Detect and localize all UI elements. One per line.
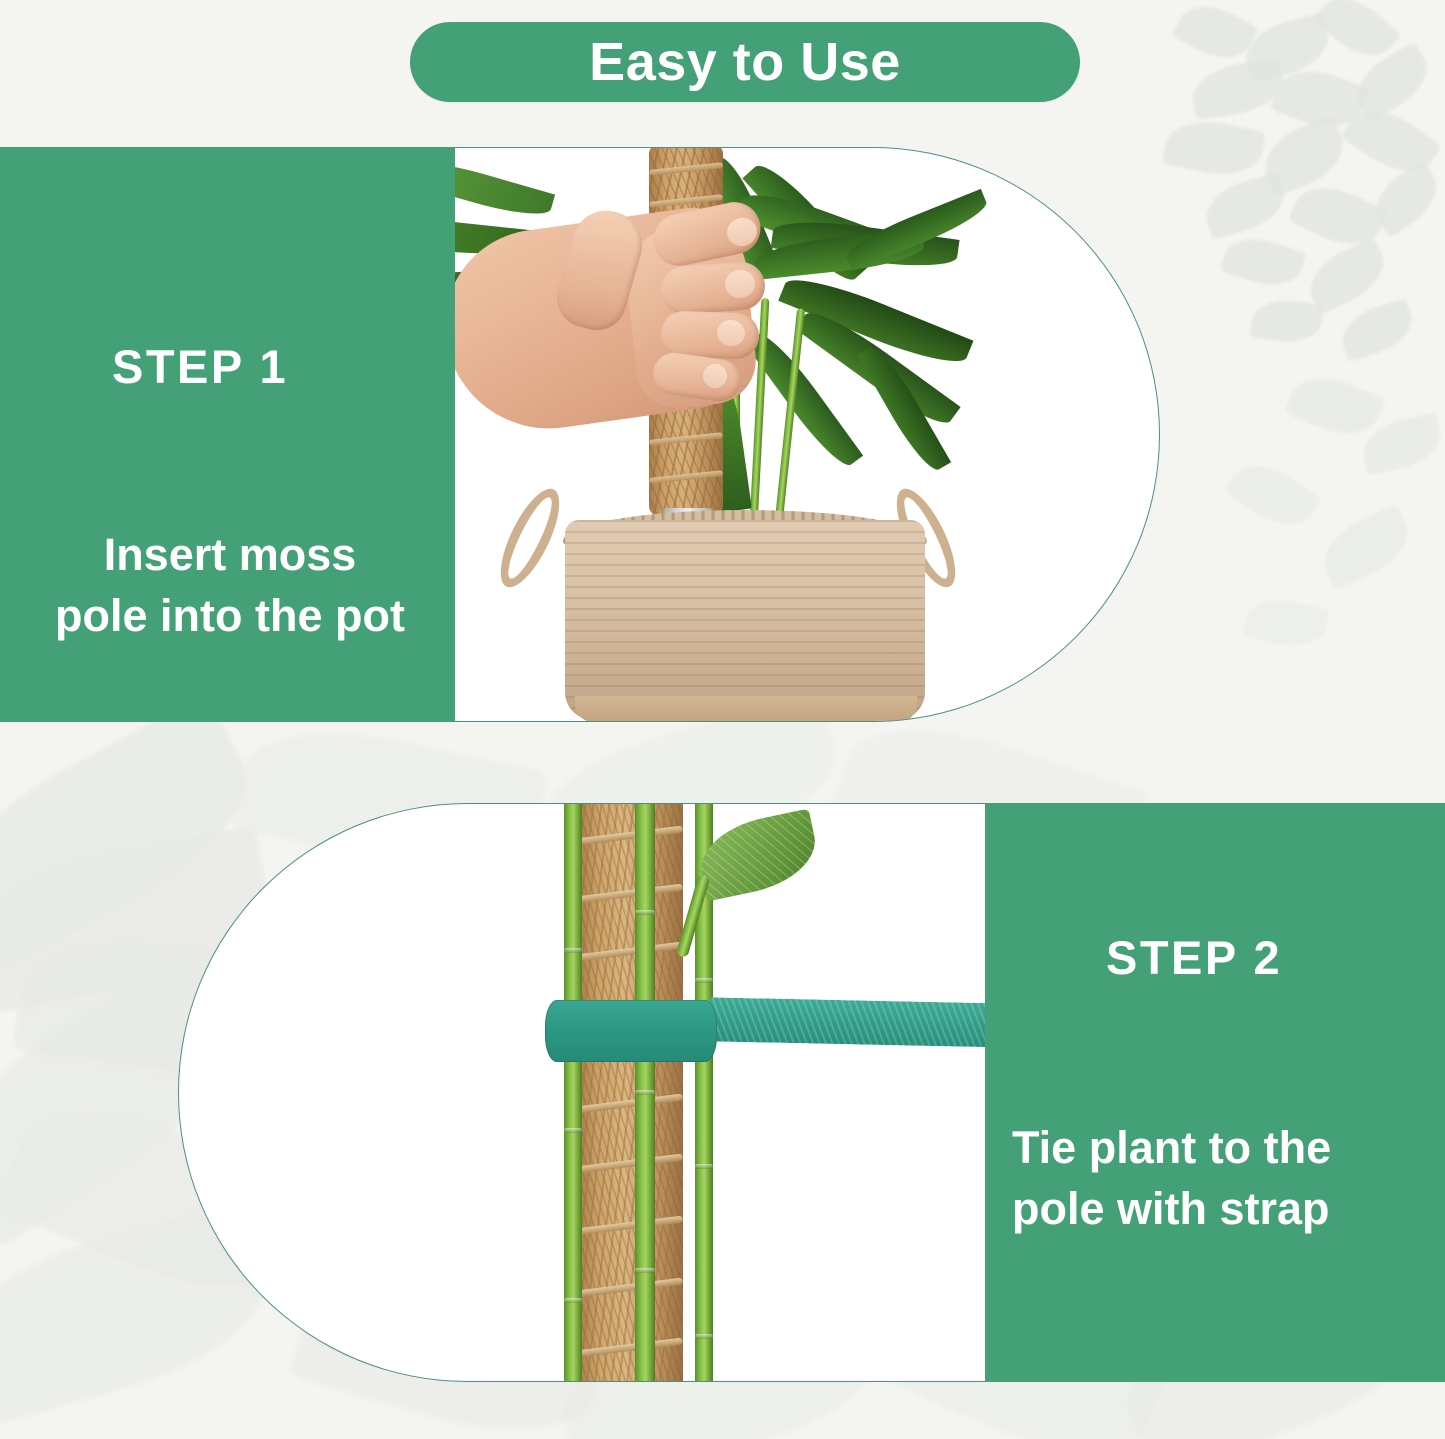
plant-stem: [773, 308, 805, 540]
step-1-description-line-2: pole into the pot: [10, 586, 450, 647]
step-2-photo: [178, 803, 988, 1382]
plant-leaf: [455, 153, 555, 223]
plant-stem: [635, 803, 655, 1382]
step-2-text-panel: [985, 803, 1445, 1382]
page-title-banner: Easy to Use: [410, 22, 1080, 102]
plant-velcro-strap: [545, 1000, 717, 1062]
step-1-photo: [455, 147, 1160, 722]
basket-handle-left: [489, 481, 570, 595]
step-1-illustration: [455, 148, 1159, 721]
step-2-description-line-1: Tie plant to the: [1012, 1118, 1432, 1179]
step-2-description: Tie plant to the pole with strap: [1012, 1118, 1432, 1240]
basket-base: [575, 696, 917, 722]
step-2-illustration: [179, 804, 988, 1381]
step-1-row: STEP 1 Insert moss pole into the pot: [0, 147, 1160, 722]
step-2-description-line-2: pole with strap: [1012, 1179, 1432, 1240]
step-1-description-line-1: Insert moss: [10, 525, 450, 586]
page-title: Easy to Use: [589, 35, 901, 89]
step-1-label: STEP 1: [112, 339, 288, 394]
plant-stem: [564, 803, 582, 1382]
infographic-canvas: Easy to Use: [0, 0, 1445, 1439]
step-2-row: [178, 803, 1445, 1382]
plant-strap-tail: [709, 997, 988, 1054]
step-1-description: Insert moss pole into the pot: [10, 525, 450, 647]
step-2-label: STEP 2: [1106, 930, 1282, 985]
woven-basket-pot: [565, 520, 925, 720]
